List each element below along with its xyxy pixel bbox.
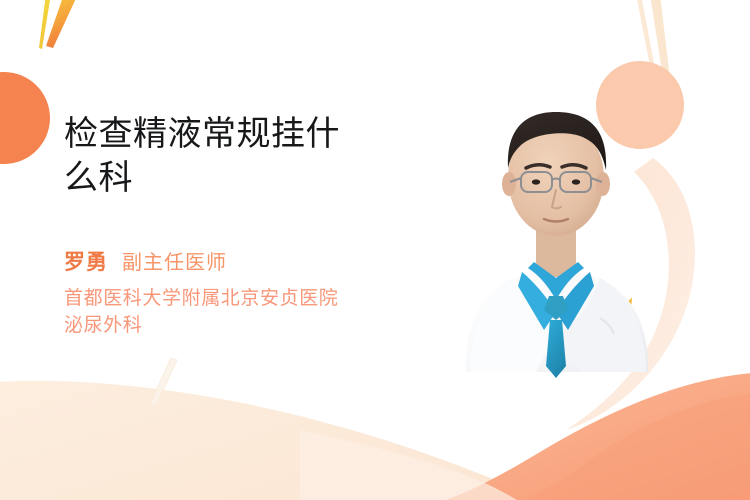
doctor-info-card: 检查精液常规挂什 么科 罗勇副主任医师 首都医科大学附属北京安贞医院 泌尿外科 xyxy=(0,0,750,500)
doctor-professional-title: 副主任医师 xyxy=(122,252,227,274)
headline-block: 检查精液常规挂什 么科 xyxy=(64,112,424,200)
doctor-affiliation-block: 首都医科大学附属北京安贞医院 泌尿外科 xyxy=(64,286,424,340)
right-peach-circle xyxy=(596,61,684,149)
doctor-hospital: 首都医科大学附属北京安贞医院 xyxy=(64,286,424,313)
doctor-name: 罗勇 xyxy=(64,251,108,274)
doctor-department: 泌尿外科 xyxy=(64,313,424,340)
doctor-identity-line: 罗勇副主任医师 xyxy=(64,246,227,276)
page-title: 检查精液常规挂什 么科 xyxy=(64,112,424,200)
